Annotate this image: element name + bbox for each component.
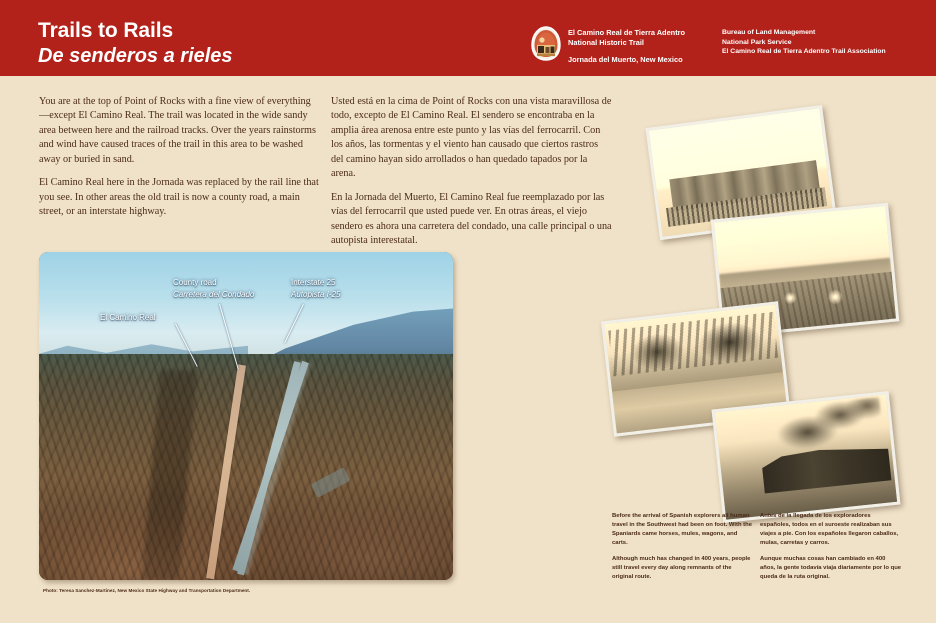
body-en-paragraph-2: El Camino Real here in the Jornada was r… xyxy=(39,176,319,219)
caption-es-paragraph-2: Aunque muchas cosas han cambiado en 400 … xyxy=(760,555,902,582)
caption-es-paragraph-1: Antes de la llegada de los exploradores … xyxy=(760,512,902,549)
callout-el-camino-real: El Camino Real xyxy=(100,312,156,324)
page-title-spanish: De senderos a rieles xyxy=(38,46,233,67)
page-title-english: Trails to Rails xyxy=(38,20,233,42)
callout-interstate-25: Interstate 25 Autopista I-25 xyxy=(291,277,340,300)
callout-county-road: County road Carretera del Condado xyxy=(173,277,254,300)
body-es-paragraph-1: Usted está en la cima de Point of Rocks … xyxy=(331,95,613,182)
callout-interstate-25-label-es: Autopista I-25 xyxy=(291,289,340,301)
trail-name-block: El Camino Real de Tierra Adentro Nationa… xyxy=(568,28,685,66)
callout-county-road-label-es: Carretera del Condado xyxy=(173,289,254,301)
photo-image xyxy=(715,394,897,519)
photo-steam-locomotive xyxy=(712,391,901,523)
spacer xyxy=(568,48,685,55)
callout-el-camino-real-label: El Camino Real xyxy=(100,312,156,324)
caption-english: Before the arrival of Spanish explorers … xyxy=(612,512,752,582)
body-text-spanish: Usted está en la cima de Point of Rocks … xyxy=(331,95,613,249)
photo-credit: Photo: Teresa Sanchez-Martinez, New Mexi… xyxy=(43,588,250,593)
callout-county-road-label-en: County road xyxy=(173,277,254,289)
aerial-view-photo: El Camino Real County road Carretera del… xyxy=(39,252,453,580)
agency-line-2: National Park Service xyxy=(722,38,886,48)
body-text-english: You are at the top of Point of Rocks wit… xyxy=(39,95,319,220)
caption-en-paragraph-1: Before the arrival of Spanish explorers … xyxy=(612,512,752,549)
trail-location: Jornada del Muerto, New Mexico xyxy=(568,55,685,65)
interpretive-sign-panel: Trails to Rails De senderos a rieles El … xyxy=(0,0,936,623)
body-en-paragraph-1: You are at the top of Point of Rocks wit… xyxy=(39,95,319,167)
agency-line-1: Bureau of Land Management xyxy=(722,28,886,38)
trail-name-line-2: National Historic Trail xyxy=(568,38,685,48)
caption-spanish: Antes de la llegada de los exploradores … xyxy=(760,512,902,582)
trail-name-line-1: El Camino Real de Tierra Adentro xyxy=(568,28,685,38)
body-es-paragraph-2: En la Jornada del Muerto, El Camino Real… xyxy=(331,191,613,249)
caption-en-paragraph-2: Although much has changed in 400 years, … xyxy=(612,555,752,582)
agency-line-3: El Camino Real de Tierra Adentro Trail A… xyxy=(722,47,886,57)
callout-interstate-25-label-en: Interstate 25 xyxy=(291,277,340,289)
el-camino-real-trail-shield-icon xyxy=(531,26,561,61)
title-block: Trails to Rails De senderos a rieles xyxy=(38,20,233,67)
panel-header: Trails to Rails De senderos a rieles El … xyxy=(0,0,936,76)
agency-credits: Bureau of Land Management National Park … xyxy=(722,28,886,57)
